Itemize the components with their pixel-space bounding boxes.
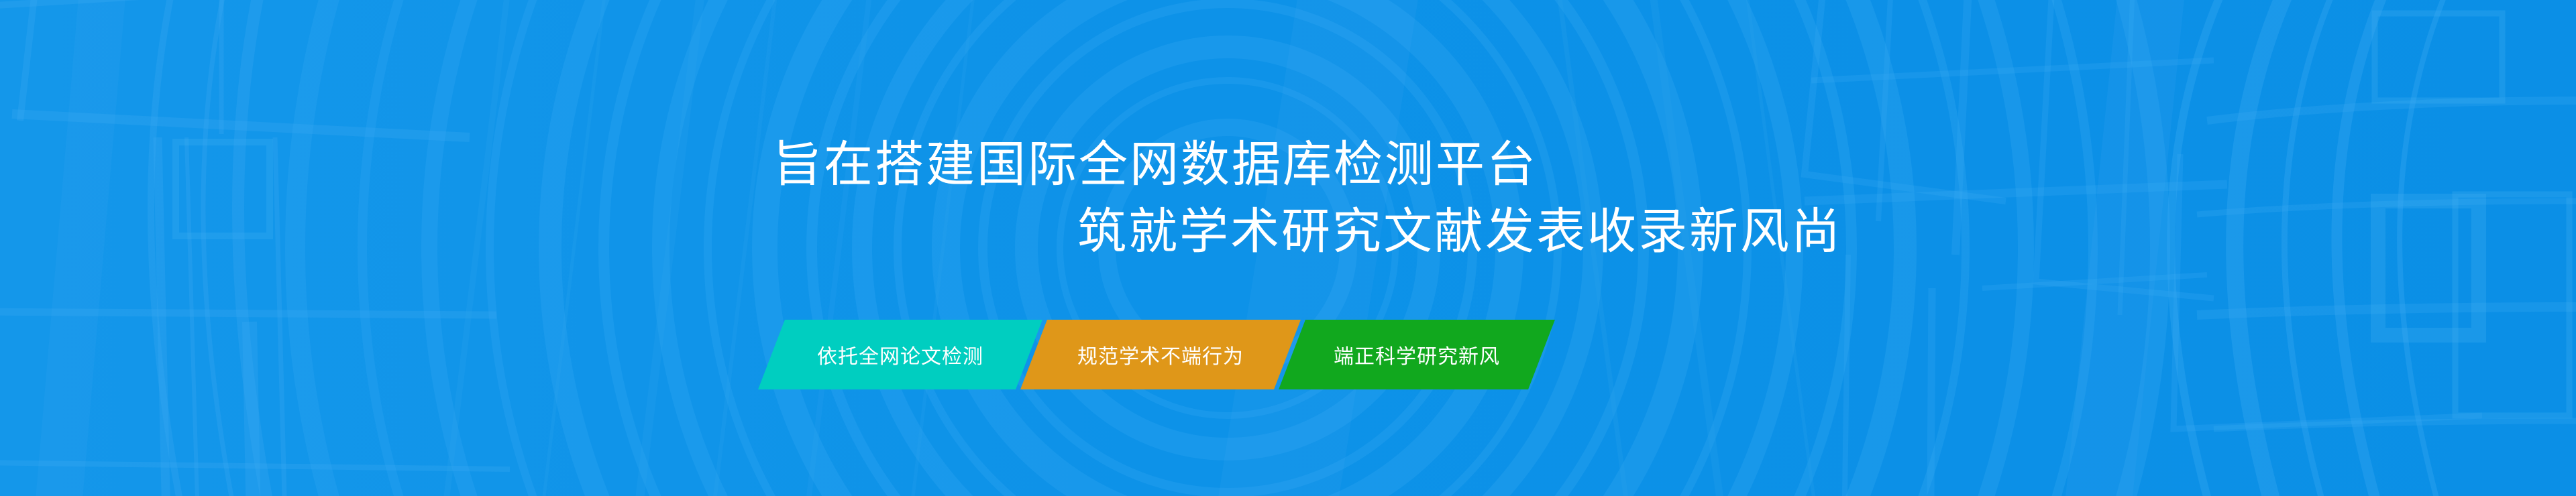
feature-tab-academic-misconduct-label: 规范学术不端行为 <box>1077 340 1244 369</box>
feature-tab-research-integrity-label: 端正科学研究新风 <box>1334 340 1500 369</box>
feature-tab-research-integrity[interactable]: 端正科学研究新风 <box>1279 320 1555 389</box>
feature-tab-academic-misconduct[interactable]: 规范学术不端行为 <box>1020 320 1301 389</box>
headline-line-1: 旨在搭建国际全网数据库检测平台 <box>773 131 2576 198</box>
headline-block: 旨在搭建国际全网数据库检测平台 筑就学术研究文献发表收录新风尚 <box>0 131 2576 265</box>
feature-tab-ribbon: 依托全网论文检测 规范学术不端行为 端正科学研究新风 <box>771 320 1542 389</box>
feature-tab-paper-detection[interactable]: 依托全网论文检测 <box>758 320 1042 389</box>
feature-tab-paper-detection-label: 依托全网论文检测 <box>817 340 983 369</box>
hero-banner: 旨在搭建国际全网数据库检测平台 筑就学术研究文献发表收录新风尚 依托全网论文检测… <box>0 0 2576 496</box>
headline-line-2: 筑就学术研究文献发表收录新风尚 <box>1077 198 2576 265</box>
